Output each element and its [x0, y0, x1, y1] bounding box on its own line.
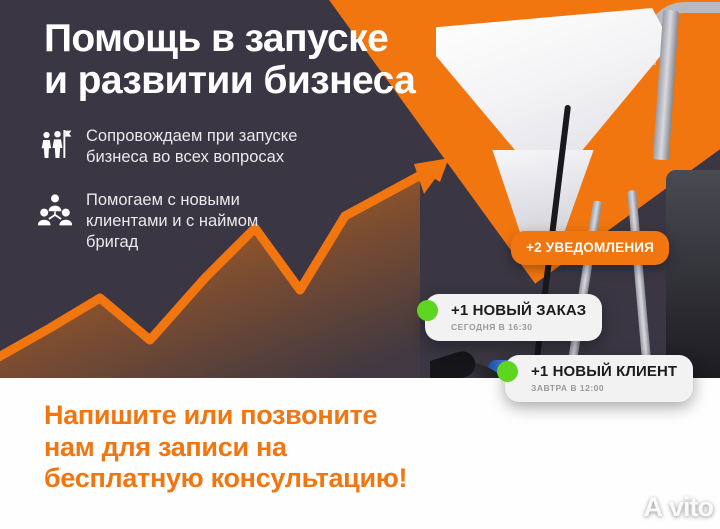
cta-line-2: нам для записи на [44, 432, 474, 464]
bullet-1-line-2: бизнеса во всех вопросах [86, 148, 284, 166]
headline-line-2: и развитии бизнеса [44, 60, 464, 102]
watermark-letter-a: A [643, 492, 662, 522]
green-status-dot-icon [417, 300, 438, 321]
list-item: Сопровождаем при запуске бизнеса во всех… [38, 126, 368, 168]
notification-card-timestamp: ЗАВТРА В 12:00 [531, 383, 677, 393]
list-item-label: Сопровождаем при запуске бизнеса во всех… [78, 126, 297, 168]
list-item-label: Помогаем с новыми клиентами и с наймом б… [78, 190, 258, 253]
page-title: Помощь в запуске и развитии бизнеса [44, 18, 464, 101]
notification-card-new-order[interactable]: +1 НОВЫЙ ЗАКАЗ СЕГОДНЯ В 16:30 [425, 294, 602, 341]
notification-card-new-client[interactable]: +1 НОВЫЙ КЛИЕНТ ЗАВТРА В 12:00 [505, 355, 693, 402]
notification-card-timestamp: СЕГОДНЯ В 16:30 [451, 322, 586, 332]
advertisement-banner: Помощь в запуске и развитии бизнеса Сопр… [0, 0, 720, 529]
list-item: Помогаем с новыми клиентами и с наймом б… [38, 190, 368, 253]
group-of-people-icon [38, 190, 78, 231]
avito-watermark: Avito [643, 492, 713, 523]
bullet-1-line-1: Сопровождаем при запуске [86, 127, 297, 145]
feature-list: Сопровождаем при запуске бизнеса во всех… [38, 126, 368, 276]
cta-line-3: бесплатную консультацию! [44, 463, 474, 495]
two-people-with-flag-icon [38, 126, 78, 167]
machine-hopper [436, 8, 671, 168]
watermark-dot-icon [663, 502, 668, 507]
notification-card-title: +1 НОВЫЙ ЗАКАЗ [451, 302, 586, 319]
bullet-2-line-3: бригад [86, 233, 138, 251]
machine-frame-bar [627, 190, 652, 370]
bullet-2-line-1: Помогаем с новыми [86, 191, 240, 209]
cta-line-1: Напишите или позвоните [44, 400, 474, 432]
notification-card-title: +1 НОВЫЙ КЛИЕНТ [531, 363, 677, 380]
headline-line-1: Помощь в запуске [44, 17, 388, 60]
call-to-action-text: Напишите или позвоните нам для записи на… [44, 400, 474, 495]
green-status-dot-icon [497, 361, 518, 382]
watermark-text-vito: vito [669, 492, 713, 522]
status-badge-notifications[interactable]: +2 УВЕДОМЛЕНИЯ [511, 231, 669, 265]
bullet-2-line-2: клиентами и с наймом [86, 212, 258, 230]
machine-frame-bar [567, 200, 602, 369]
